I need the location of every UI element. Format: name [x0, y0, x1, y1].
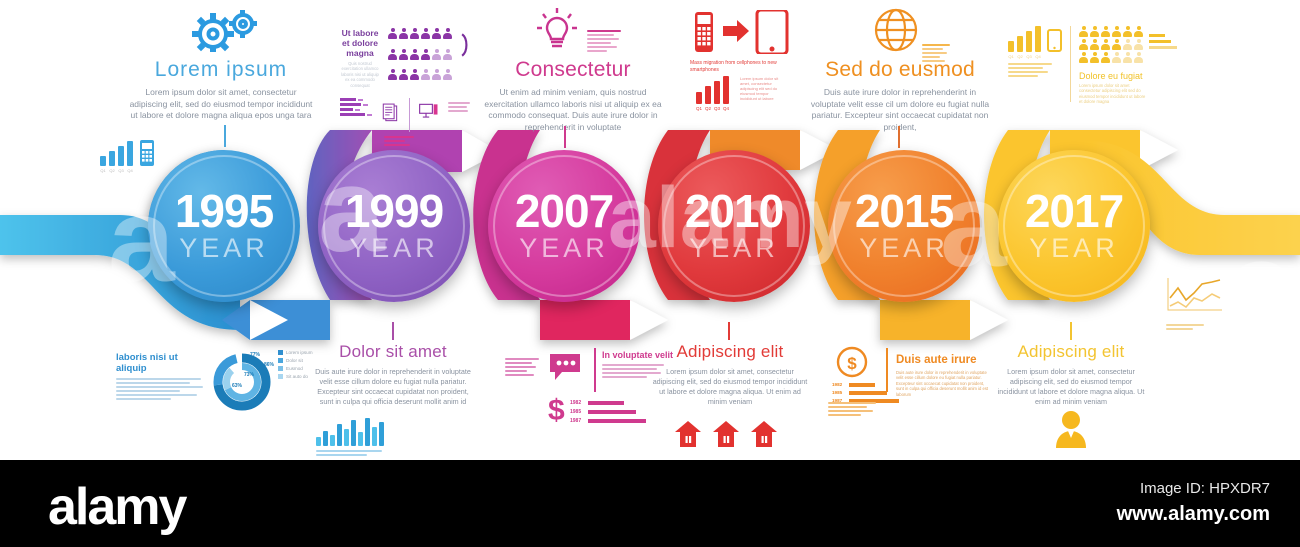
top-block-2007: Consectetur Ut enim ad minim veniam, qui…	[478, 58, 668, 133]
people-grid-icon	[1079, 26, 1143, 63]
top-body: Lorem ipsum dolor sit amet, consectetur …	[128, 87, 314, 122]
row-label: 1985	[570, 409, 584, 415]
top-block-2015: Sed do eusmod Duis aute irure dolor in r…	[810, 58, 990, 133]
user-avatar-icon	[1054, 410, 1088, 453]
top-title: Ut labore et dolore magna	[340, 28, 380, 58]
houses-icon	[674, 420, 778, 448]
bottom-title: Duis aute irure	[896, 354, 977, 366]
year-word: YEAR	[1029, 235, 1119, 262]
top-icon-gears-1995	[186, 8, 264, 57]
bar-chart-icon-1999	[316, 418, 384, 458]
people-grid-icon	[388, 28, 452, 88]
donut-value: 63%	[232, 383, 242, 389]
year-word: YEAR	[179, 235, 269, 262]
dollar-rows-2007: 1982 1985 1987	[570, 400, 646, 424]
connector-stem-2010	[728, 322, 730, 340]
year-circle-2010[interactable]: 2010 YEAR	[658, 150, 810, 302]
top-block-1995: Lorem ipsum Lorem ipsum dolor sit amet, …	[128, 58, 314, 122]
horizontal-bars-icon	[1149, 34, 1177, 49]
monitor-icon	[419, 98, 438, 126]
speech-bubble-icon	[548, 352, 582, 387]
year-number: 2015	[855, 190, 953, 234]
bar-labels: Q1Q2Q3Q4	[696, 106, 729, 111]
top-title: Dolore eu fugiat	[1079, 71, 1177, 81]
donut-value: 86%	[264, 362, 274, 368]
top-title: Mass migration from cellphones to new sm…	[690, 60, 780, 74]
phone-handset-icon	[460, 28, 470, 62]
bottom-block-1995: laboris nisi ut aliquip	[116, 352, 208, 402]
svg-text:$: $	[847, 354, 857, 373]
connector-stem-1999	[392, 322, 394, 340]
year-number: 1999	[345, 190, 443, 234]
year-circle-2017[interactable]: 2017 YEAR	[998, 150, 1150, 302]
bottom-title: Dolor sit amet	[314, 342, 472, 362]
bottom-title: Adipiscing elit	[996, 342, 1146, 362]
top-block-2017: Q1Q2Q3Q4	[1008, 26, 1178, 105]
year-number: 2010	[685, 190, 783, 234]
top-body: Lorem ipsum dolor sit amet consectetur a…	[1079, 83, 1147, 105]
bottom-body: Lorem ipsum dolor sit amet, consectetur …	[996, 367, 1146, 407]
signal-bars-cellphone-icon: Q1Q2Q3Q4	[100, 140, 155, 173]
legend-label: Sit auto do	[286, 374, 308, 379]
bottom-block-2010: Adipiscing elit Lorem ipsum dolor sit am…	[652, 342, 808, 407]
line-graph-icon	[1166, 276, 1224, 332]
year-circle-1999[interactable]: 1999 YEAR	[318, 150, 470, 302]
faux-text-lines	[828, 402, 876, 418]
top-block-1999: Ut labore et dolore magna Quis nostrud e…	[340, 28, 470, 148]
bottom-block-1999: Dolor sit amet Duis aute irure dolor in …	[314, 342, 472, 407]
top-body: Lorem ipsum dolor sit amet, consectetur …	[740, 76, 786, 101]
legend-label: Dolor sit	[286, 358, 303, 363]
divider	[886, 348, 888, 392]
row-label: 1987	[570, 418, 584, 424]
documents-icon	[382, 98, 399, 128]
year-circle-2015[interactable]: 2015 YEAR	[828, 150, 980, 302]
donut-value: 77%	[250, 352, 260, 358]
connector-stem-2015	[898, 126, 900, 148]
faux-text-lines	[587, 30, 621, 54]
faux-text-lines	[448, 102, 470, 114]
top-icon-globe-2015	[874, 8, 918, 57]
year-number: 1995	[175, 190, 273, 234]
year-word: YEAR	[859, 235, 949, 262]
top-body: Ut enim ad minim veniam, quis nostrud ex…	[478, 87, 668, 133]
top-icon-lightbulb-2007	[535, 6, 579, 63]
bottom-body: Duis aute irure dolor in reprehenderit i…	[896, 370, 992, 397]
legend-label: Eusmod	[286, 366, 303, 371]
image-id-label: Image ID: HPXDR7	[1140, 480, 1270, 497]
bottom-title: Adipiscing elit	[652, 342, 808, 362]
bottom-body: Lorem ipsum dolor sit amet, consectetur …	[652, 367, 808, 407]
horizontal-bars-icon	[340, 98, 372, 116]
year-word: YEAR	[689, 235, 779, 262]
divider	[594, 348, 596, 392]
top-icon-phone-migration-2010	[693, 10, 793, 59]
bar-labels: Q1Q2Q3Q4	[100, 168, 155, 173]
mini-bar-chart	[100, 140, 155, 166]
row-label: 1985	[832, 390, 845, 395]
faux-text-lines	[384, 136, 414, 148]
connector-stem-1995	[224, 125, 226, 147]
donut-legend: Lorem ipsum Dolor sit Eusmod Sit auto do	[278, 350, 313, 379]
year-circle-1995[interactable]: 1995 YEAR	[148, 150, 300, 302]
bottom-body	[116, 378, 208, 400]
legend-label: Lorem ipsum	[286, 350, 313, 355]
row-label: 1982	[832, 382, 845, 387]
top-title: Lorem ipsum	[128, 58, 314, 82]
row-label: 1982	[570, 400, 584, 406]
alamy-website-label: www.alamy.com	[1117, 503, 1270, 526]
bottom-body: Duis aute irure dolor in reprehenderit i…	[314, 367, 472, 407]
faux-text-lines	[505, 358, 539, 378]
top-title: Consectetur	[478, 58, 668, 82]
year-number: 2017	[1025, 190, 1123, 234]
dollar-coin-icon: $	[836, 346, 868, 383]
year-word: YEAR	[519, 235, 609, 262]
top-body: Duis aute irure dolor in reprehenderint …	[810, 87, 990, 133]
top-bar-chart-2010: Q1Q2Q3Q4	[696, 76, 729, 111]
top-body: Quis nostrud exercitation ullamco labori…	[340, 61, 380, 88]
dollar-sign-icon: $	[548, 396, 565, 426]
donut-value: 73%	[244, 372, 254, 378]
alamy-logo: alamy	[48, 477, 185, 537]
infographic-canvas: 1995 YEAR 1999 YEAR 2007 YEAR 2010 YEAR …	[0, 0, 1300, 460]
bottom-block-2017: Adipiscing elit Lorem ipsum dolor sit am…	[996, 342, 1146, 407]
bar-labels: Q1Q2Q3Q4	[1008, 54, 1062, 59]
bars-tablet-icon: Q1Q2Q3Q4	[1008, 26, 1062, 79]
dollar-rows-2015: 1982 1985 1987	[832, 382, 899, 403]
connector-stem-2017	[1070, 322, 1072, 340]
year-circle-2007[interactable]: 2007 YEAR	[488, 150, 640, 302]
alamy-footer-bar: alamy Image ID: HPXDR7 www.alamy.com	[0, 460, 1300, 547]
top-title: Sed do eusmod	[810, 58, 990, 82]
year-number: 2007	[515, 190, 613, 234]
connector-stem-2007	[564, 126, 566, 148]
bottom-title: laboris nisi ut aliquip	[116, 352, 208, 374]
year-word: YEAR	[349, 235, 439, 262]
